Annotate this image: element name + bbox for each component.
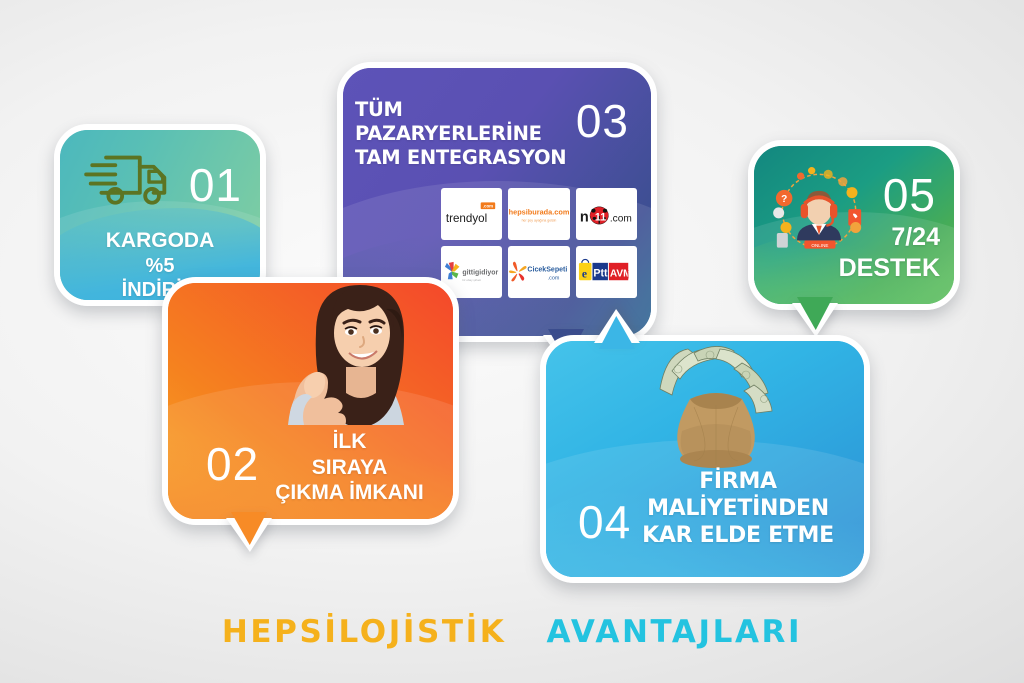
card-05-caption-line1: 7/24 [839,222,940,253]
infographic-canvas: 01 KARGODA %5 İNDİRİM TÜM PAZARYERLERİNE… [0,0,1024,683]
card-02-number: 02 [206,441,259,487]
svg-text:e: e [582,267,587,280]
card-03-caption: TÜM PAZARYERLERİNE TAM ENTEGRASYON [355,98,573,169]
svg-text:.com: .com [548,275,560,281]
svg-text:her şey ayağına gelsin: her şey ayağına gelsin [522,218,557,222]
card-01-surface: 01 KARGODA %5 İNDİRİM [60,130,260,300]
epttavm-logo[interactable]: e Ptt AVM .com [576,246,637,298]
svg-text:gittigidiyor: gittigidiyor [462,269,498,276]
card-03-caption-line2: TAM ENTEGRASYON [355,146,573,170]
card-05-surface: ? ONLINE [754,146,954,304]
svg-text:.com: .com [626,269,631,278]
card-01-caption-line1: KARGODA [60,228,260,254]
bottom-title: HEPSİLOJİSTİKAVANTAJLARI [0,614,1024,650]
card-02-caption-line1: İLK [254,429,445,455]
ciceksepeti-logo[interactable]: CicekSepeti .com [508,246,569,298]
svg-text:bir ebay şirketi: bir ebay şirketi [462,278,481,282]
svg-text:hepsiburada.com: hepsiburada.com [509,207,569,216]
svg-text:ONLINE: ONLINE [811,243,828,248]
thumbs-up-woman-photo [276,283,436,425]
marketplace-logo-grid: .com trendyol hepsiburada.com her şey ay… [441,188,637,298]
svg-text:?: ? [781,194,787,205]
card-03-number: 03 [576,98,629,144]
benefit-card-02[interactable]: 02 İLK SIRAYA ÇIKMA İMKANI [162,277,459,525]
card-04-caption-line1: FİRMA MALİYETİNDEN [618,469,858,523]
card-04-tail [594,309,640,343]
card-05-caption: 7/24 DESTEK [839,222,940,283]
card-05-tail [792,303,838,337]
card-01-caption-line2: %5 [60,254,260,278]
svg-text:.com: .com [482,203,492,208]
card-02-tail [226,518,272,552]
bottom-title-word1: HEPSİLOJİSTİK [222,614,507,650]
money-bag-icon [642,345,792,473]
svg-text:CicekSepeti: CicekSepeti [527,266,567,273]
benefit-card-05[interactable]: ? ONLINE [748,140,960,310]
svg-text:trendyol: trendyol [446,212,487,225]
card-02-caption: İLK SIRAYA ÇIKMA İMKANI [254,429,445,506]
card-02-caption-line2: SIRAYA [254,455,445,481]
card-04-surface: 04 FİRMA MALİYETİNDEN KAR ELDE ETME [546,341,864,577]
svg-text:11: 11 [595,211,606,223]
card-03-caption-line1: TÜM PAZARYERLERİNE [355,98,573,146]
trendyol-logo[interactable]: .com trendyol [441,188,502,240]
card-05-number: 05 [883,172,936,218]
hepsiburada-logo[interactable]: hepsiburada.com her şey ayağına gelsin [508,188,569,240]
card-04-caption-line2: KAR ELDE ETME [618,523,858,550]
delivery-truck-icon [80,148,172,210]
card-02-surface: 02 İLK SIRAYA ÇIKMA İMKANI [168,283,453,519]
card-04-caption: FİRMA MALİYETİNDEN KAR ELDE ETME [618,469,858,549]
n11-logo[interactable]: n 11 .com [576,188,637,240]
card-01-number: 01 [189,162,242,208]
svg-text:Ptt: Ptt [594,267,609,279]
svg-text:n: n [580,209,589,225]
card-05-caption-line2: DESTEK [839,253,940,284]
bottom-title-word2: AVANTAJLARI [546,614,802,650]
svg-text:.com: .com [610,213,632,224]
card-02-caption-line3: ÇIKMA İMKANI [254,480,445,506]
benefit-card-04[interactable]: 04 FİRMA MALİYETİNDEN KAR ELDE ETME [540,335,870,583]
